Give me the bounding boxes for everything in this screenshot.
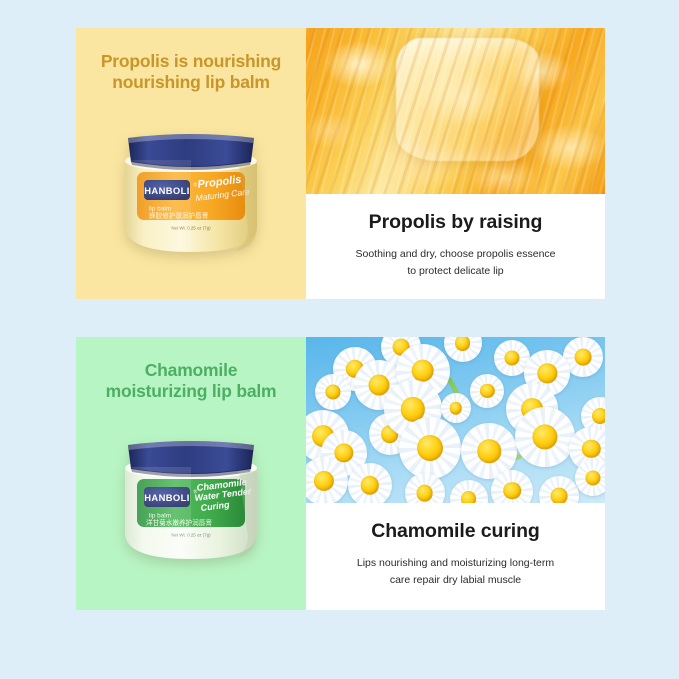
chamomile-flower bbox=[399, 417, 461, 479]
chamomile-flower bbox=[441, 393, 471, 423]
honeycomb-photo bbox=[306, 28, 605, 194]
propolis-panel-heading: Propolis is nourishing nourishing lip ba… bbox=[76, 51, 306, 94]
propolis-text-title: Propolis by raising bbox=[369, 211, 543, 234]
propolis-heading-line-1: Propolis is nourishing bbox=[84, 51, 298, 72]
chamomile-flower bbox=[491, 470, 533, 503]
chamomile-text-sub-line-1: Lips nourishing and moisturizing long-te… bbox=[341, 555, 570, 572]
product-card-chamomile: Chamomile moisturizing lip balm bbox=[76, 337, 605, 610]
chamomile-text-block: Chamomile curing Lips nourishing and moi… bbox=[306, 503, 605, 610]
propolis-text-sub-line-2: to protect delicate lip bbox=[391, 263, 519, 280]
chamomile-flower bbox=[470, 374, 504, 408]
chamomile-flower bbox=[444, 337, 482, 362]
chamomile-heading-line-2: moisturizing lip balm bbox=[84, 381, 298, 402]
chamomile-flower bbox=[539, 476, 579, 503]
chamomile-flower bbox=[405, 473, 445, 503]
chamomile-flower bbox=[348, 463, 392, 503]
chamomile-flowers-photo bbox=[306, 337, 605, 503]
chamomile-product-jar: HANBOLI ® Chamomile Water Tender Curing … bbox=[115, 437, 267, 569]
chamomile-heading-line-1: Chamomile bbox=[84, 360, 298, 381]
chamomile-text-title: Chamomile curing bbox=[371, 520, 540, 543]
chamomile-flower bbox=[515, 407, 575, 467]
propolis-text-block: Propolis by raising Soothing and dry, ch… bbox=[306, 194, 605, 299]
propolis-product-jar: HANBOLI ® Propolis Maturing Care lip bal… bbox=[115, 130, 267, 262]
chamomile-flower bbox=[315, 374, 351, 410]
chamomile-text-sub-line-2: care repair dry labial muscle bbox=[374, 572, 537, 589]
honey-shadow-streaks bbox=[306, 28, 605, 194]
product-infographic: Propolis is nourishing nourishing lip ba… bbox=[0, 0, 679, 679]
propolis-content-pane: Propolis by raising Soothing and dry, ch… bbox=[306, 28, 605, 299]
propolis-heading-line-2: nourishing lip balm bbox=[84, 72, 298, 93]
chamomile-panel-heading: Chamomile moisturizing lip balm bbox=[76, 360, 306, 403]
propolis-color-panel: Propolis is nourishing nourishing lip ba… bbox=[76, 28, 306, 299]
chamomile-flower bbox=[450, 480, 488, 503]
chamomile-content-pane: Chamomile curing Lips nourishing and moi… bbox=[306, 337, 605, 610]
chamomile-color-panel: Chamomile moisturizing lip balm bbox=[76, 337, 306, 610]
chamomile-flower bbox=[575, 460, 605, 496]
product-card-propolis: Propolis is nourishing nourishing lip ba… bbox=[76, 28, 605, 299]
propolis-text-sub-line-1: Soothing and dry, choose propolis essenc… bbox=[339, 246, 571, 263]
